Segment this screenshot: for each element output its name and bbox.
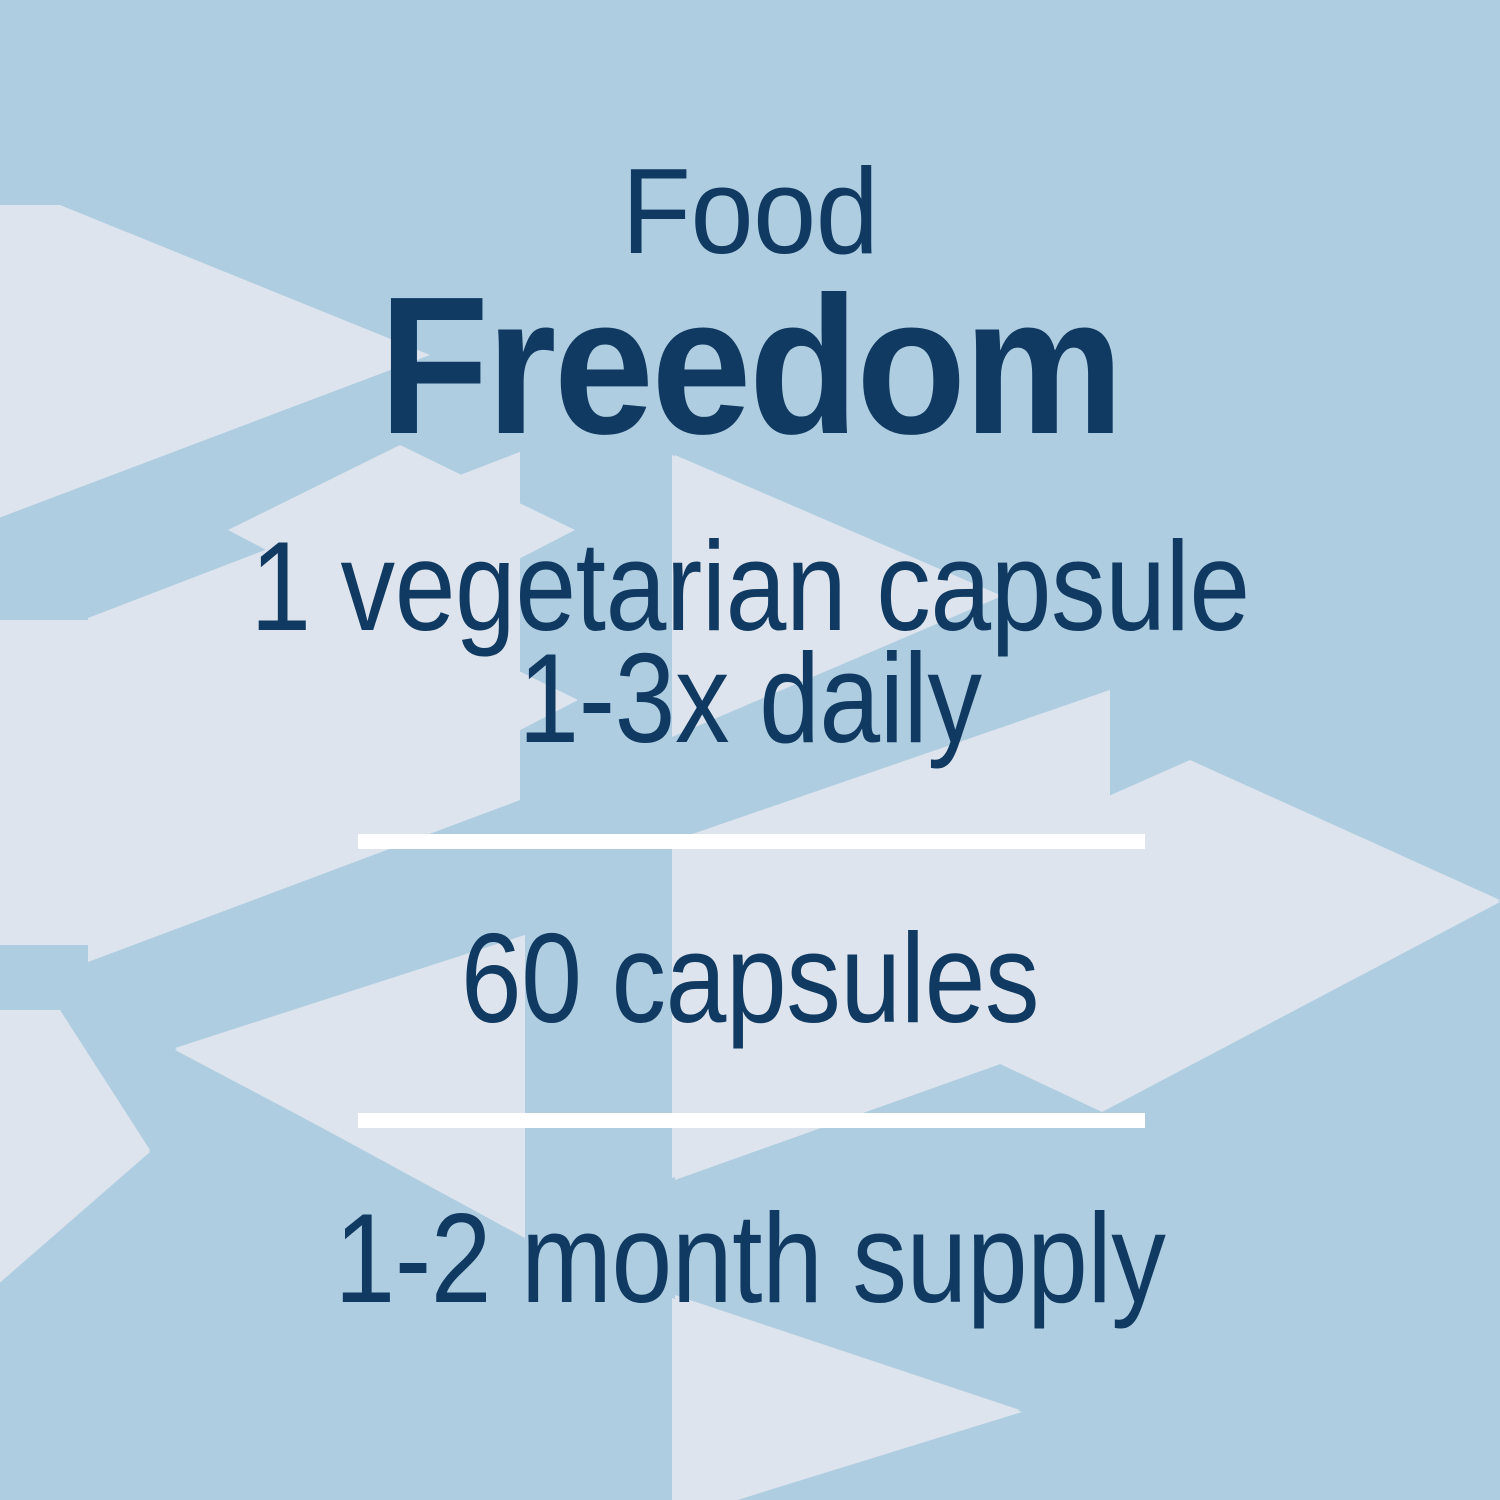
product-eyebrow: Food [53,150,1448,272]
supply-duration-label: 1-2 month supply [105,1195,1395,1322]
page-title: Freedom [60,268,1440,464]
divider-top [358,834,1145,849]
product-info-panel: Food Freedom 1 vegetarian capsule 1-3x d… [0,0,1500,1500]
divider-bottom [358,1113,1145,1128]
dosage-line-frequency: 1-3x daily [105,635,1395,762]
capsule-count-label: 60 capsules [105,915,1395,1042]
